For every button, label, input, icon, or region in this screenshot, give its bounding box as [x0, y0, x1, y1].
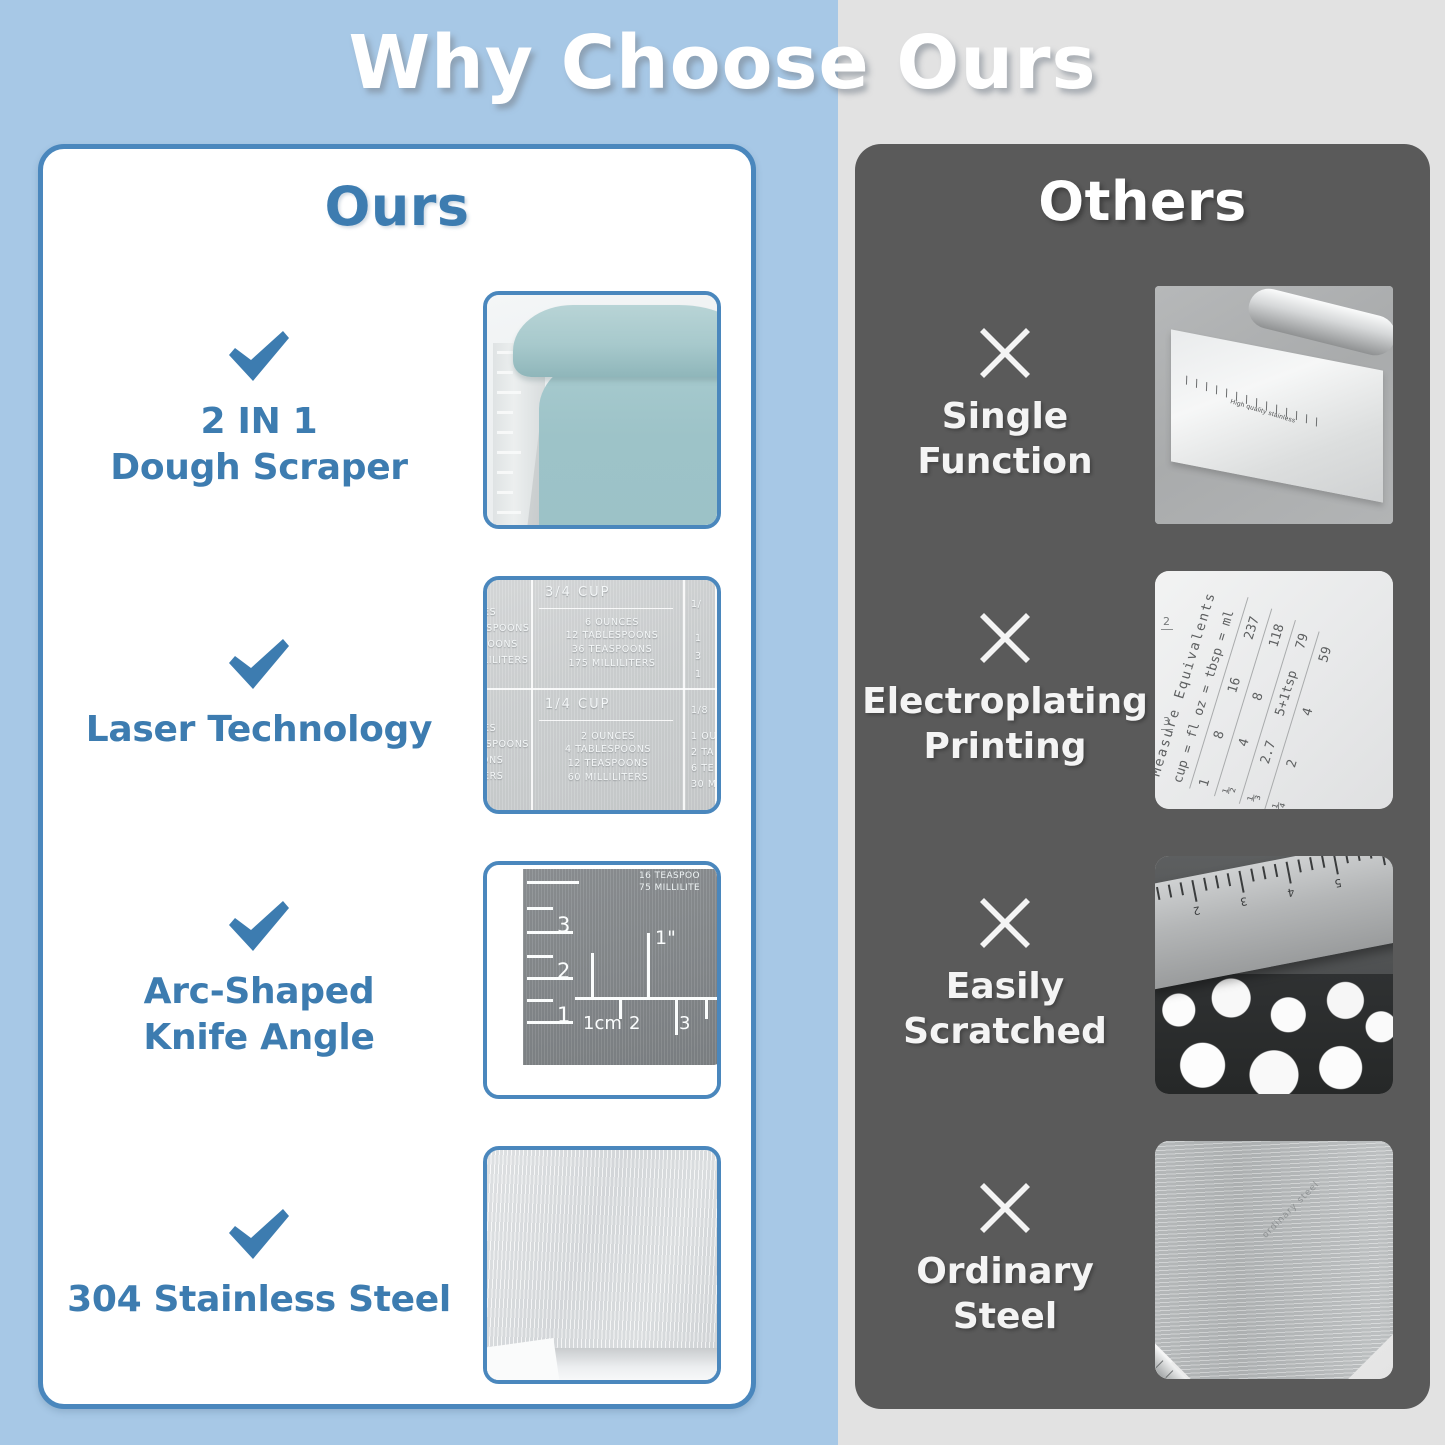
- ours-feature-text-line1: Laser Technology: [86, 709, 432, 750]
- ours-feature-image-frame: [483, 1146, 721, 1384]
- ours-feature-label: 2 IN 1 Dough Scraper: [43, 329, 483, 490]
- ruler-tick-number: 4: [1286, 885, 1295, 899]
- ours-feature-text-line1: 304 Stainless Steel: [67, 1279, 451, 1320]
- brushed-stainless-steel-surface-closeup: [487, 1150, 717, 1380]
- printed-table-cell: 1: [1197, 776, 1214, 788]
- others-feature-list: Single Function High qua: [855, 262, 1430, 1402]
- engraved-left-fragment: ES: [483, 606, 496, 620]
- ruler-tick-number: 3: [1239, 894, 1248, 908]
- engraved-bottom-value: 60 MILLILITERS: [545, 771, 671, 785]
- others-feature-text: Ordinary Steel: [855, 1250, 1155, 1339]
- printed-table-cell: 4: [1236, 736, 1253, 748]
- handle-upper: [513, 305, 721, 377]
- ordinary-steel-blade-on-marble: ordinary steel: [1155, 1141, 1393, 1379]
- ours-feature-row: Arc-Shaped Knife Angle 16 TEASPOO 75 MIL…: [43, 837, 751, 1122]
- others-feature-row: Electroplating Printing 2 3 Measure Equi…: [855, 547, 1430, 832]
- handle-lower: [539, 355, 721, 529]
- check-icon: [225, 329, 293, 383]
- comparison-infographic: Why Choose Ours Ours 2 IN 1 Dough Scrape…: [0, 0, 1445, 1445]
- others-feature-row: Single Function High qua: [855, 262, 1430, 547]
- others-heading: Others: [855, 170, 1430, 233]
- printed-table-cell: 2.7: [1258, 738, 1279, 765]
- printed-table-cell: 4: [1300, 706, 1317, 718]
- printed-table-cell: 8: [1250, 690, 1267, 702]
- engraved-left-fragment: ESPOONS: [483, 738, 529, 752]
- engraved-bottom-value: 4 TABLESPOONS: [545, 743, 671, 757]
- ours-feature-list: 2 IN 1 Dough Scraper: [43, 267, 751, 1407]
- engraved-inch-number: 2: [557, 959, 570, 983]
- engraved-plate: [523, 869, 721, 1065]
- ours-feature-text: Laser Technology: [43, 707, 475, 752]
- scratched-metal-ruler: 2 3 4 5: [1155, 856, 1393, 990]
- printed-table-cell: 8: [1211, 729, 1228, 741]
- cross-icon: [977, 325, 1033, 381]
- engraved-top-value: 12 TABLESPOONS: [549, 629, 675, 643]
- ours-feature-image-frame: [483, 291, 721, 529]
- engraved-bottom-value: 2 OUNCES: [545, 730, 671, 744]
- plain-steel-scraper-with-printed-ruler: High quality stainless: [1155, 286, 1393, 524]
- engraved-cm-number: 3: [679, 1013, 690, 1034]
- cross-icon: [977, 610, 1033, 666]
- ours-feature-text-line2: Dough Scraper: [43, 445, 475, 490]
- ours-feature-text: 2 IN 1 Dough Scraper: [43, 399, 475, 490]
- printed-table-cell: 79: [1293, 631, 1312, 650]
- others-feature-label: Easily Scratched: [855, 895, 1155, 1054]
- others-feature-label: Single Function: [855, 325, 1155, 484]
- others-feature-row: Ordinary Steel ordinary steel: [855, 1117, 1430, 1402]
- engraved-top-value: 6 OUNCES: [549, 616, 675, 630]
- ours-feature-image-frame: 16 TEASPOO 75 MILLILITE 3 2 1: [483, 861, 721, 1099]
- others-feature-text-line2: Function: [855, 440, 1155, 485]
- steel-corner: [483, 1337, 560, 1383]
- engraved-left-fragment: POONS: [483, 638, 518, 652]
- ours-feature-text-line1: 2 IN 1: [201, 401, 318, 442]
- engraved-inch-number: 3: [557, 913, 570, 937]
- engraved-right-fragment: 30 M: [691, 778, 717, 792]
- engraved-right-fragment: 1: [695, 632, 702, 646]
- others-feature-text-line2: Steel: [855, 1295, 1155, 1340]
- engraved-cup-bottom: 1/4 CUP: [545, 696, 611, 715]
- others-feature-label: Ordinary Steel: [855, 1180, 1155, 1339]
- engraved-left-fragment: ASPOONS: [483, 622, 530, 636]
- check-icon: [225, 1207, 293, 1261]
- ours-feature-image-frame: 3/4 CUP 6 OUNCES 12 TABLESPOONS 36 TEASP…: [483, 576, 721, 814]
- others-feature-text-line2: Printing: [855, 725, 1155, 770]
- printed-table-cell: 16: [1225, 675, 1244, 694]
- arc-shaped-knife-angle-ruler-closeup: 16 TEASPOO 75 MILLILITE 3 2 1: [487, 865, 717, 1095]
- cross-icon: [977, 1180, 1033, 1236]
- engraved-top-value: 175 MILLILITERS: [549, 657, 675, 671]
- engraved-right-fragment: 2 TA: [691, 746, 714, 760]
- ours-feature-text-line2: Knife Angle: [43, 1015, 475, 1060]
- teal-handle-dough-scraper-closeup: [487, 295, 717, 525]
- engraved-right-fragment: 1: [695, 668, 702, 682]
- engraved-cm-number: 1cm: [583, 1013, 622, 1034]
- ours-feature-label: Laser Technology: [43, 637, 483, 752]
- ruler-tick-number: 5: [1333, 875, 1342, 889]
- others-feature-text-line1: Electroplating: [862, 681, 1148, 722]
- printed-table-cell: ⅓: [1246, 792, 1263, 804]
- steel-blade: [1155, 1141, 1393, 1379]
- check-icon: [225, 637, 293, 691]
- engraved-right-fragment: 1/8: [691, 704, 708, 718]
- ours-feature-text-line1: Arc-Shaped: [144, 971, 375, 1012]
- page-title: Why Choose Ours: [0, 20, 1445, 106]
- others-feature-text-line1: Single: [942, 396, 1068, 437]
- others-feature-image: 2 3 Measure Equivalents cup = fl oz = tb…: [1155, 571, 1393, 809]
- engraved-top-fragment: 75 MILLILITE: [639, 883, 700, 893]
- others-feature-text-line1: Easily: [946, 966, 1064, 1007]
- lace-fabric: [1155, 974, 1393, 1094]
- engraved-cm-number: 2: [629, 1013, 640, 1034]
- engraved-right-fragment: 1 OU: [691, 730, 717, 744]
- ours-feature-label: Arc-Shaped Knife Angle: [43, 899, 483, 1060]
- ours-feature-row: Laser Technology 3/4 CUP 6 OUNCES 12 TAB…: [43, 552, 751, 837]
- engraved-bottom-value: 12 TEASPOONS: [545, 757, 671, 771]
- engraved-top-fragment: 16 TEASPOO: [639, 871, 700, 881]
- others-feature-image: High quality stainless: [1155, 286, 1393, 524]
- ours-panel: Ours 2 IN 1 Dough Scraper: [38, 144, 756, 1409]
- others-feature-text-line1: Ordinary: [916, 1251, 1094, 1292]
- others-feature-text: Single Function: [855, 395, 1155, 484]
- ours-feature-text: Arc-Shaped Knife Angle: [43, 969, 475, 1060]
- scratched-ruler-on-lace-fabric: 2 3 4 5: [1155, 856, 1393, 1094]
- engraved-cup-top: 3/4 CUP: [545, 584, 611, 603]
- check-icon: [225, 899, 293, 953]
- printed-measure-equivalents-table: 2 3 Measure Equivalents cup = fl oz = tb…: [1155, 571, 1393, 809]
- others-feature-text: Easily Scratched: [855, 965, 1155, 1054]
- engraved-right-fragment: 1/: [691, 598, 701, 612]
- engraved-left-fragment: ONS: [483, 754, 503, 768]
- others-feature-image: ordinary steel: [1155, 1141, 1393, 1379]
- rotated-table: Measure Equivalents cup = fl oz = tbsp =…: [1155, 571, 1393, 809]
- engraved-right-fragment: 6 TE: [691, 762, 714, 776]
- printed-table-cell: 59: [1316, 644, 1335, 663]
- printed-side-number: 2: [1163, 615, 1170, 628]
- printed-table-cell: ¼: [1271, 799, 1288, 808]
- printed-table-cell: 237: [1242, 614, 1263, 641]
- engraved-left-fragment: ES: [483, 722, 496, 736]
- others-feature-row: Easily Scratched: [855, 832, 1430, 1117]
- others-panel: Others Single Function: [855, 144, 1430, 1409]
- others-feature-text-line2: Scratched: [855, 1010, 1155, 1055]
- ruler-tick-number: 2: [1192, 903, 1201, 917]
- others-feature-label: Electroplating Printing: [855, 610, 1155, 769]
- others-feature-text: Electroplating Printing: [855, 680, 1155, 769]
- engraved-left-fragment: LLILITERS: [483, 654, 528, 668]
- ours-feature-row: 304 Stainless Steel: [43, 1122, 751, 1407]
- ours-feature-label: 304 Stainless Steel: [43, 1207, 483, 1322]
- printed-table-cell: 118: [1266, 622, 1287, 649]
- ours-heading: Ours: [43, 175, 751, 238]
- engraved-inch-number: 1: [557, 1003, 570, 1027]
- engraved-top-value: 36 TEASPOONS: [549, 643, 675, 657]
- others-feature-image: 2 3 4 5: [1155, 856, 1393, 1094]
- ours-feature-row: 2 IN 1 Dough Scraper: [43, 267, 751, 552]
- printed-table-cell: 2: [1284, 757, 1301, 769]
- ours-feature-text: 304 Stainless Steel: [43, 1277, 475, 1322]
- cross-icon: [977, 895, 1033, 951]
- engraved-inch-label: 1": [655, 927, 676, 949]
- laser-engraved-measurement-plate: 3/4 CUP 6 OUNCES 12 TABLESPOONS 36 TEASP…: [487, 580, 717, 810]
- printed-table-cell: ½: [1221, 784, 1238, 796]
- engraved-right-fragment: 3: [695, 650, 702, 664]
- engraved-left-fragment: ERS: [483, 770, 503, 784]
